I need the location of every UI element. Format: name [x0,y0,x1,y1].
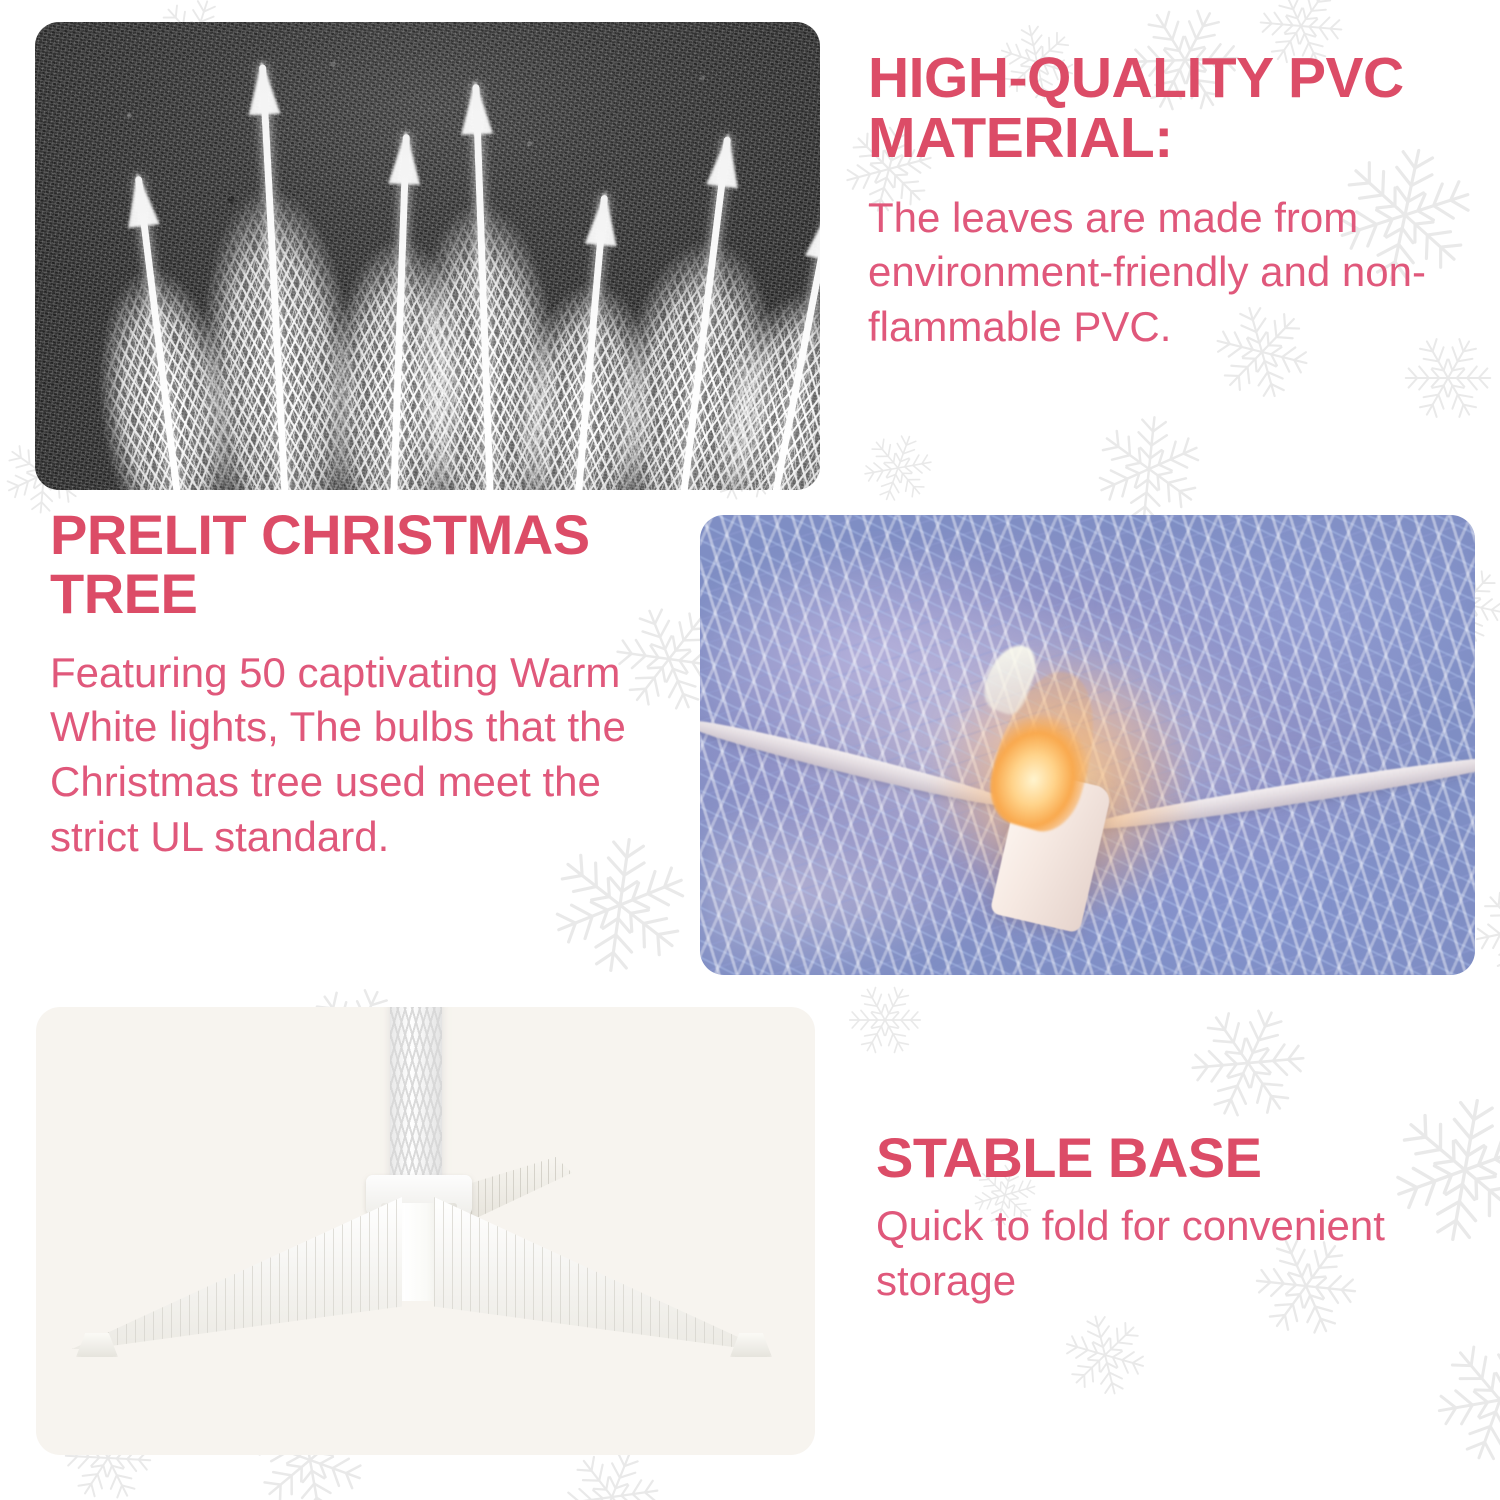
feature-block-stable-base: STABLE BASE Quick to fold for convenient… [876,1128,1476,1309]
snowflake-icon [1410,1310,1500,1489]
feature-heading-pvc: HIGH-QUALITY PVC MATERIAL: [868,48,1468,169]
snowflake-icon [830,965,939,1074]
photo-light-bulb [700,515,1475,975]
photo-tree-stand [36,1007,815,1455]
stand-leg-right [434,1197,764,1349]
infographic-canvas: HIGH-QUALITY PVC MATERIAL: The leaves ar… [0,0,1500,1500]
snowflake-icon [1041,1291,1168,1418]
stand-leg-left [72,1197,402,1349]
feature-body-stable-base: Quick to fold for convenient storage [876,1199,1476,1308]
feature-block-pvc: HIGH-QUALITY PVC MATERIAL: The leaves ar… [868,48,1468,355]
feature-heading-prelit: PRELIT CHRISTMAS TREE [50,505,690,624]
feature-body-pvc: The leaves are made from environment-fri… [868,191,1468,355]
feature-body-prelit: Featuring 50 captivating Warm White ligh… [50,646,690,864]
feature-block-prelit: PRELIT CHRISTMAS TREE Featuring 50 capti… [50,505,690,864]
feature-heading-stable-base: STABLE BASE [876,1128,1476,1187]
snowflake-icon [1164,979,1331,1146]
snowflake-icon [849,419,946,516]
tinsel-trunk [390,1007,442,1189]
photo-branch-tips [35,22,820,490]
